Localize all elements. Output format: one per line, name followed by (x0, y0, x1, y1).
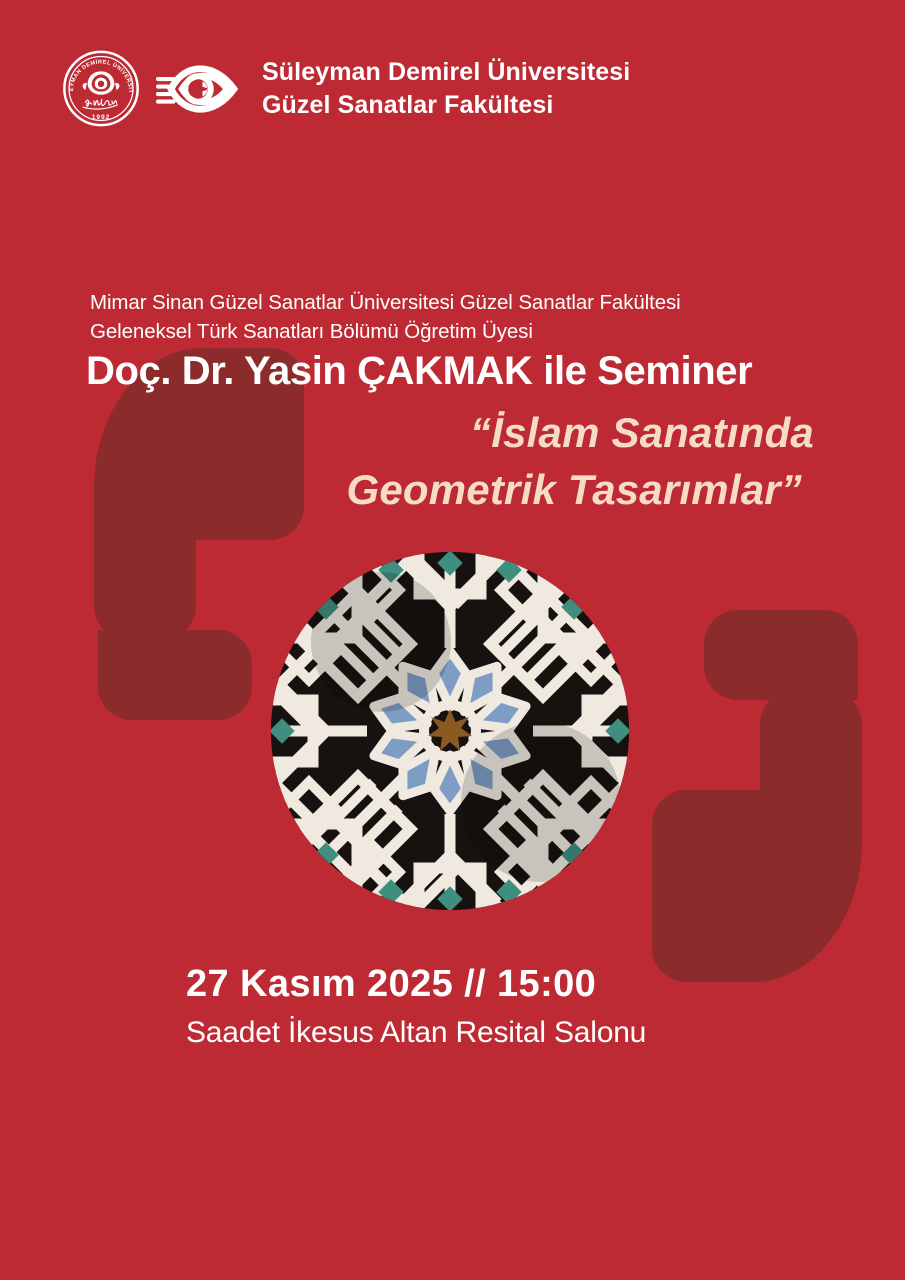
seminar-poster: SÜLEYMAN DEMİREL ÜNİVERSİTESİ 1992 (0, 0, 905, 1280)
faculty-eye-icon (156, 56, 240, 122)
seminar-title-line-2: Geometrik Tasarımlar” (90, 461, 820, 518)
zellige-pattern (271, 552, 629, 910)
institution-line-1: Süleyman Demirel Üniversitesi (262, 56, 630, 89)
seminar-title-line-1: “İslam Sanatında (90, 404, 820, 461)
affiliation-line-1: Mimar Sinan Güzel Sanatlar Üniversitesi … (90, 288, 681, 317)
affiliation-line-2: Geleneksel Türk Sanatları Bölümü Öğretim… (90, 317, 681, 346)
speaker-affiliation: Mimar Sinan Güzel Sanatlar Üniversitesi … (90, 288, 681, 346)
header-institution-text: Süleyman Demirel Üniversitesi Güzel Sana… (262, 56, 630, 122)
institution-line-2: Güzel Sanatlar Fakültesi (262, 89, 630, 122)
poster-header: SÜLEYMAN DEMİREL ÜNİVERSİTESİ 1992 (62, 46, 630, 131)
decorative-close-quote (632, 600, 872, 1000)
university-seal-icon: SÜLEYMAN DEMİREL ÜNİVERSİTESİ 1992 (62, 46, 140, 131)
svg-text:1992: 1992 (92, 114, 110, 121)
speaker-name-heading: Doç. Dr. Yasin ÇAKMAK ile Seminer (86, 349, 752, 394)
event-venue: Saadet İkesus Altan Resital Salonu (186, 1016, 646, 1050)
event-date-time: 27 Kasım 2025 // 15:00 (186, 963, 596, 1006)
islamic-geometric-tile-image (271, 552, 629, 910)
close-quote-shape (632, 600, 872, 1000)
seminar-title: “İslam Sanatında Geometrik Tasarımlar” (90, 404, 820, 518)
